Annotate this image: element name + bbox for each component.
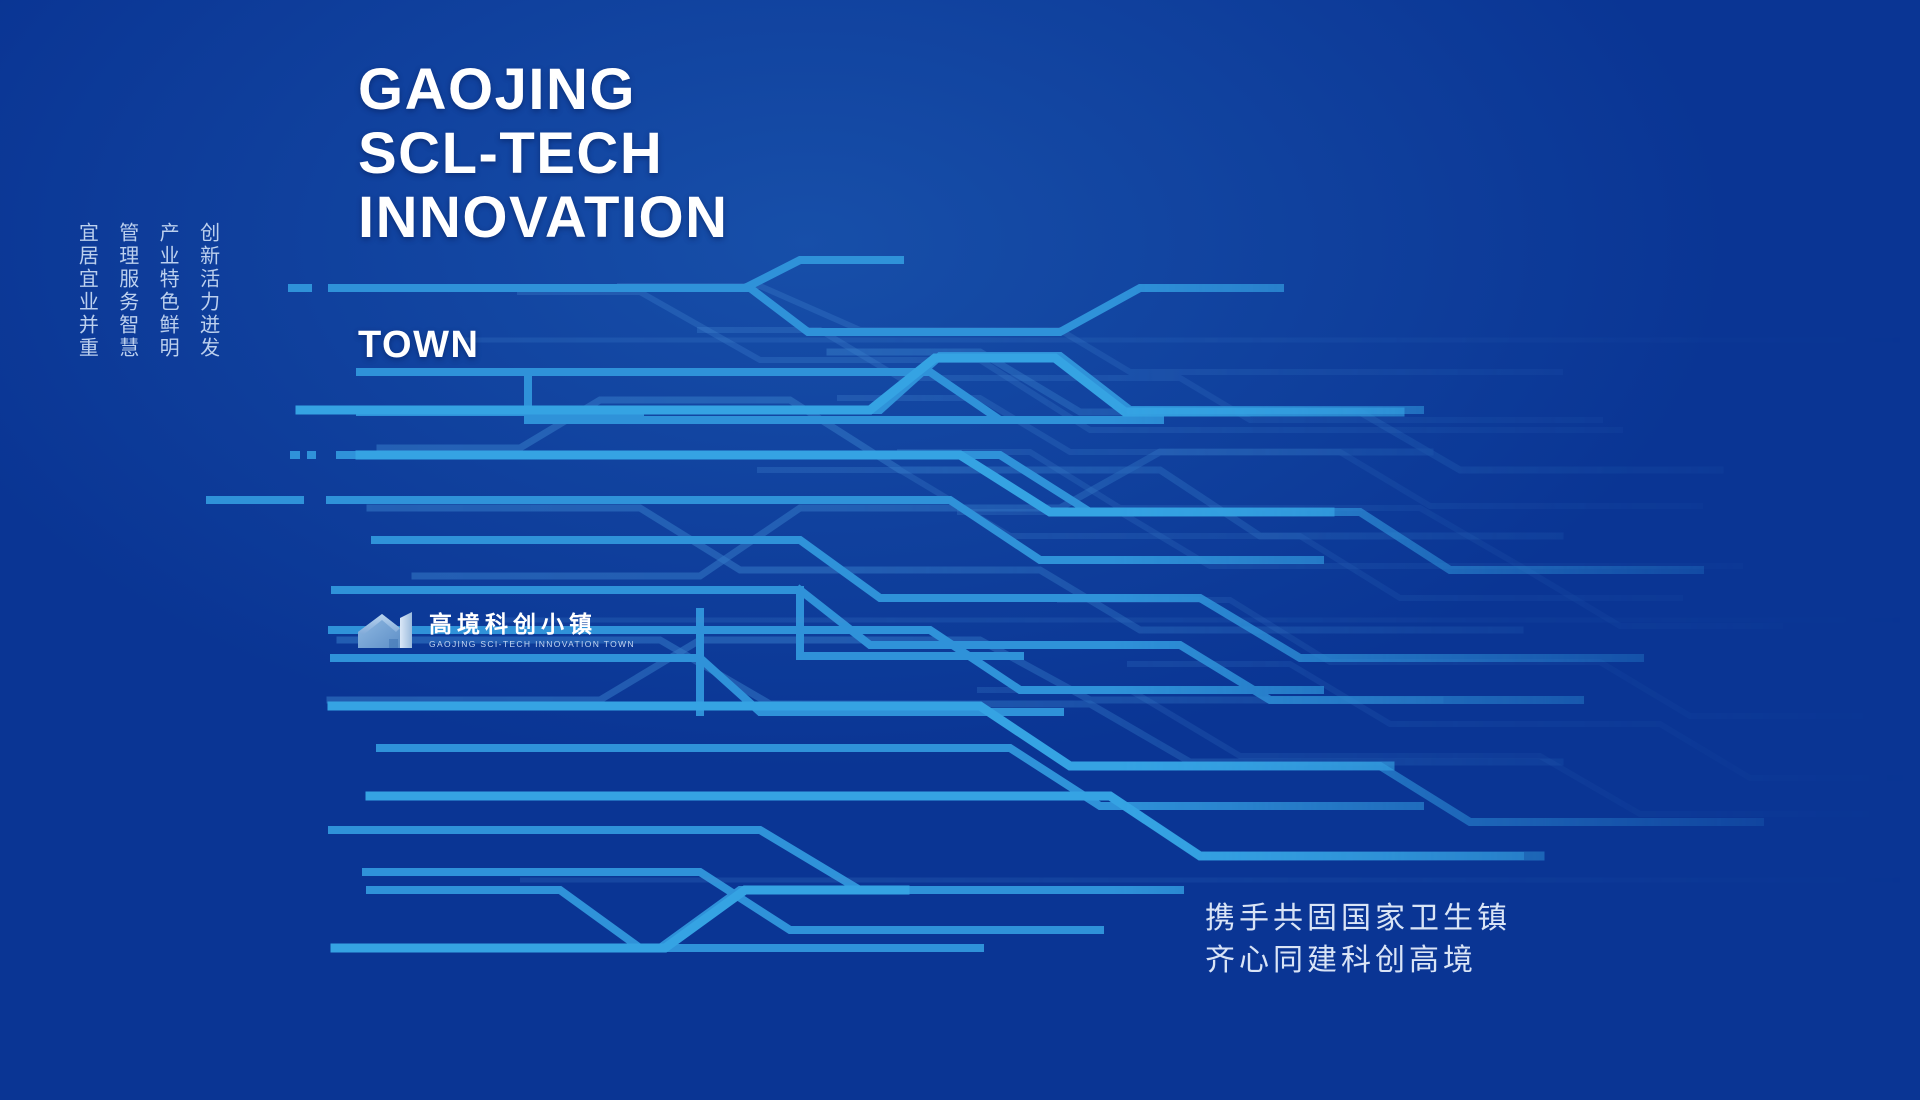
brand-logo: 高境科创小镇 GAOJING SCI-TECH INNOVATION TOWN [356,608,635,652]
bottom-slogan-line-2: 齐心同建科创高境 [1205,940,1511,982]
bottom-slogan-line-1: 携手共固国家卫生镇 [1205,898,1511,940]
poster-canvas: 创新活力迸发 产业特色鲜明 管理服务智慧 宜居宜业并重 GAOJING SCL-… [0,0,1920,1100]
headline-subword-town: TOWN [358,325,479,365]
page-title: GAOJING SCL-TECH INNOVATION [358,58,729,250]
headline-line-1: GAOJING [358,58,729,122]
circuit-trace-artwork [0,0,1920,1100]
vertical-slogan: 创新活力迸发 产业特色鲜明 管理服务智慧 宜居宜业并重 [72,222,222,360]
house-building-icon [356,608,418,652]
vertical-slogan-column-3: 管理服务智慧 [112,222,140,360]
vertical-slogan-column-2: 产业特色鲜明 [153,222,181,360]
vertical-slogan-column-1: 创新活力迸发 [193,222,221,360]
brand-name-cn: 高境科创小镇 [429,612,635,636]
vertical-slogan-column-4: 宜居宜业并重 [72,222,100,360]
brand-name-en: GAOJING SCI-TECH INNOVATION TOWN [429,639,635,649]
headline-line-3: INNOVATION [358,186,729,250]
brand-text: 高境科创小镇 GAOJING SCI-TECH INNOVATION TOWN [429,612,635,649]
bottom-slogan: 携手共固国家卫生镇 齐心同建科创高境 [1205,898,1511,982]
headline-line-2: SCL-TECH [358,122,729,186]
